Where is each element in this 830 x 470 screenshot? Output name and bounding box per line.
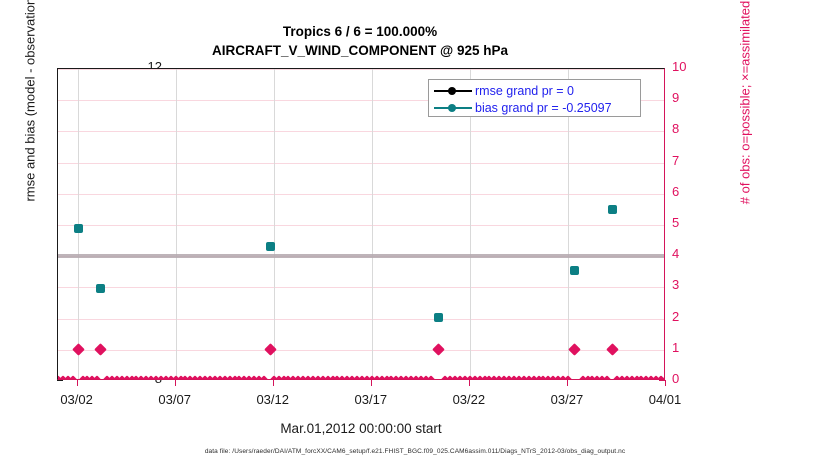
legend[interactable]: rmse grand pr = 0 bias grand pr = -0.250… [428,79,641,117]
y-tick-label-right: 0 [672,371,712,386]
gridline-horizontal [58,163,664,164]
gridline-horizontal [58,225,664,226]
x-tick-label: 03/12 [238,392,308,407]
zero-line [58,254,664,258]
gridline-vertical [372,69,373,379]
legend-item-bias[interactable]: bias grand pr = -0.25097 [433,99,636,116]
x-tick-mark [567,380,568,386]
x-tick-mark [77,380,78,386]
legend-swatch-bias [433,101,473,115]
bias-point [434,313,443,322]
y-tick-label-right: 7 [672,153,712,168]
x-tick-label: 03/02 [42,392,112,407]
obs-count-marker [432,343,445,356]
y-tick-label-right: 6 [672,184,712,199]
y-tick-mark-left [57,380,63,381]
legend-label-bias: bias grand pr = -0.25097 [473,101,612,115]
bias-point [570,266,579,275]
legend-label-rmse: rmse grand pr = 0 [473,84,574,98]
gridline-vertical [274,69,275,379]
y-tick-label-right: 5 [672,215,712,230]
y-axis-label-left: rmse and bias (model - observation) [23,0,38,258]
y-tick-label-right: 2 [672,309,712,324]
y-tick-label-right: 10 [672,59,712,74]
y-tick-label-right: 1 [672,340,712,355]
legend-marker-icon [448,104,456,112]
title-line-2: AIRCRAFT_V_WIND_COMPONENT @ 925 hPa [0,41,720,60]
y-tick-label-right: 9 [672,90,712,105]
obs-count-marker [569,343,582,356]
x-tick-label: 03/22 [434,392,504,407]
x-tick-mark [371,380,372,386]
gridline-vertical [176,69,177,379]
y-tick-label-right: 3 [672,277,712,292]
x-tick-mark [665,380,666,386]
title-line-1: Tropics 6 / 6 = 100.000% [0,22,720,41]
x-tick-label: 04/01 [630,392,700,407]
gridline-horizontal [58,194,664,195]
bias-point [608,205,617,214]
gridline-horizontal [58,319,664,320]
y-tick-label-right: 8 [672,121,712,136]
obs-count-marker [72,343,85,356]
x-tick-label: 03/27 [532,392,602,407]
y-axis-label-right: # of obs: o=possible; ×=assimilated [738,0,753,263]
bias-point [266,242,275,251]
figure-root: Tropics 6 / 6 = 100.000% AIRCRAFT_V_WIND… [0,0,830,470]
y-tick-label-right: 4 [672,246,712,261]
obs-count-marker [607,343,620,356]
x-tick-mark [175,380,176,386]
legend-item-rmse[interactable]: rmse grand pr = 0 [433,82,636,99]
page-title: Tropics 6 / 6 = 100.000% AIRCRAFT_V_WIND… [0,22,720,60]
legend-swatch-rmse [433,84,473,98]
bias-point [74,224,83,233]
gridline-horizontal [58,131,664,132]
x-tick-label: 03/07 [140,392,210,407]
x-tick-mark [469,380,470,386]
x-tick-label: 03/17 [336,392,406,407]
obs-count-marker [95,343,108,356]
gridline-horizontal [58,69,664,70]
x-axis-label: Mar.01,2012 00:00:00 start [57,421,665,436]
gridline-horizontal [58,287,664,288]
x-tick-mark [273,380,274,386]
legend-marker-icon [448,87,456,95]
bias-point [96,284,105,293]
data-file-caption: data file: /Users/raeder/DAI/ATM_forcXX/… [0,448,830,455]
